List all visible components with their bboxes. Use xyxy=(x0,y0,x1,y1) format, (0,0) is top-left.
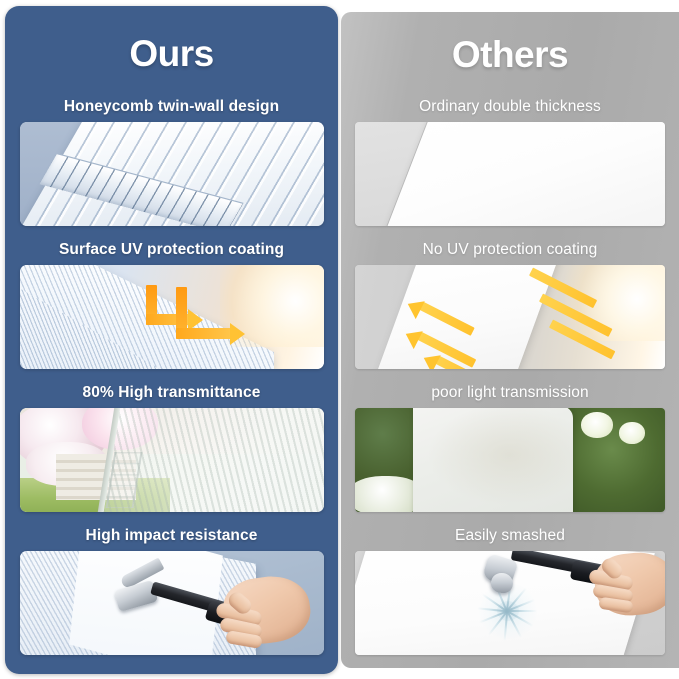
feature-label: Ordinary double thickness xyxy=(341,98,679,116)
column-ours: Ours Honeycomb twin-wall design Surface … xyxy=(5,6,338,674)
feature-label: 80% High transmittance xyxy=(5,384,338,402)
feature-row-easily-smashed: Easily smashed xyxy=(341,527,679,655)
column-others: Others Ordinary double thickness No UV p… xyxy=(341,12,679,668)
uv-rays-passing-through-sheet-diagram xyxy=(355,265,665,369)
column-title-others: Others xyxy=(341,34,679,76)
hammer-striking-intact-sheet-photo xyxy=(20,551,324,655)
feature-label: Honeycomb twin-wall design xyxy=(5,98,338,116)
feature-row-ordinary-thickness: Ordinary double thickness xyxy=(341,98,679,226)
feature-row-transmittance: 80% High transmittance xyxy=(5,384,338,512)
opaque-panel-blocking-garden-photo xyxy=(355,408,665,512)
feature-row-poor-transmission: poor light transmission xyxy=(341,384,679,512)
comparison-infographic: Ours Honeycomb twin-wall design Surface … xyxy=(0,0,679,679)
twin-wall-polycarbonate-sheet-photo xyxy=(20,122,324,226)
plain-solid-sheet-photo xyxy=(355,122,665,226)
feature-label: Surface UV protection coating xyxy=(5,241,338,259)
feature-label: poor light transmission xyxy=(341,384,679,402)
feature-row-uv-coating: Surface UV protection coating xyxy=(5,241,338,369)
hammer-shattering-sheet-photo xyxy=(355,551,665,655)
feature-row-honeycomb-design: Honeycomb twin-wall design xyxy=(5,98,338,226)
garden-visible-through-clear-sheet-photo xyxy=(20,408,324,512)
feature-label: High impact resistance xyxy=(5,527,338,545)
feature-row-impact-resistance: High impact resistance xyxy=(5,527,338,655)
feature-label: No UV protection coating xyxy=(341,241,679,259)
uv-rays-reflecting-off-sheet-diagram xyxy=(20,265,324,369)
feature-row-no-uv-coating: No UV protection coating xyxy=(341,241,679,369)
feature-label: Easily smashed xyxy=(341,527,679,545)
column-title-ours: Ours xyxy=(5,33,338,75)
